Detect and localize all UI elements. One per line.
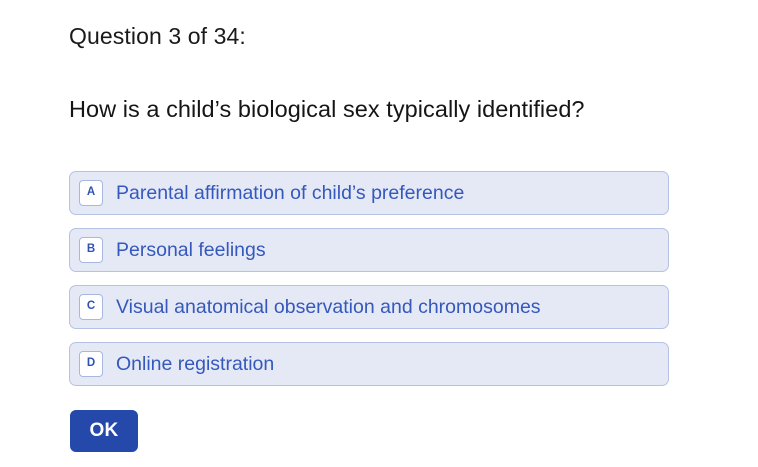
answer-option-c[interactable]: C Visual anatomical observation and chro… [69, 285, 669, 329]
answer-option-a[interactable]: A Parental affirmation of child’s prefer… [69, 171, 669, 215]
option-letter-badge-c: C [79, 294, 103, 320]
option-label-b: Personal feelings [116, 238, 266, 262]
option-letter-badge-a: A [79, 180, 103, 206]
option-label-a: Parental affirmation of child’s preferen… [116, 181, 464, 205]
option-label-d: Online registration [116, 352, 274, 376]
option-label-c: Visual anatomical observation and chromo… [116, 295, 541, 319]
answer-options-list: A Parental affirmation of child’s prefer… [69, 171, 669, 399]
quiz-page: Question 3 of 34: How is a child’s biolo… [0, 0, 758, 467]
answer-option-b[interactable]: B Personal feelings [69, 228, 669, 272]
question-text: How is a child’s biological sex typicall… [69, 94, 585, 124]
option-letter-badge-d: D [79, 351, 103, 377]
question-counter: Question 3 of 34: [69, 21, 246, 51]
ok-submit-button[interactable]: OK [70, 410, 138, 452]
answer-option-d[interactable]: D Online registration [69, 342, 669, 386]
option-letter-badge-b: B [79, 237, 103, 263]
